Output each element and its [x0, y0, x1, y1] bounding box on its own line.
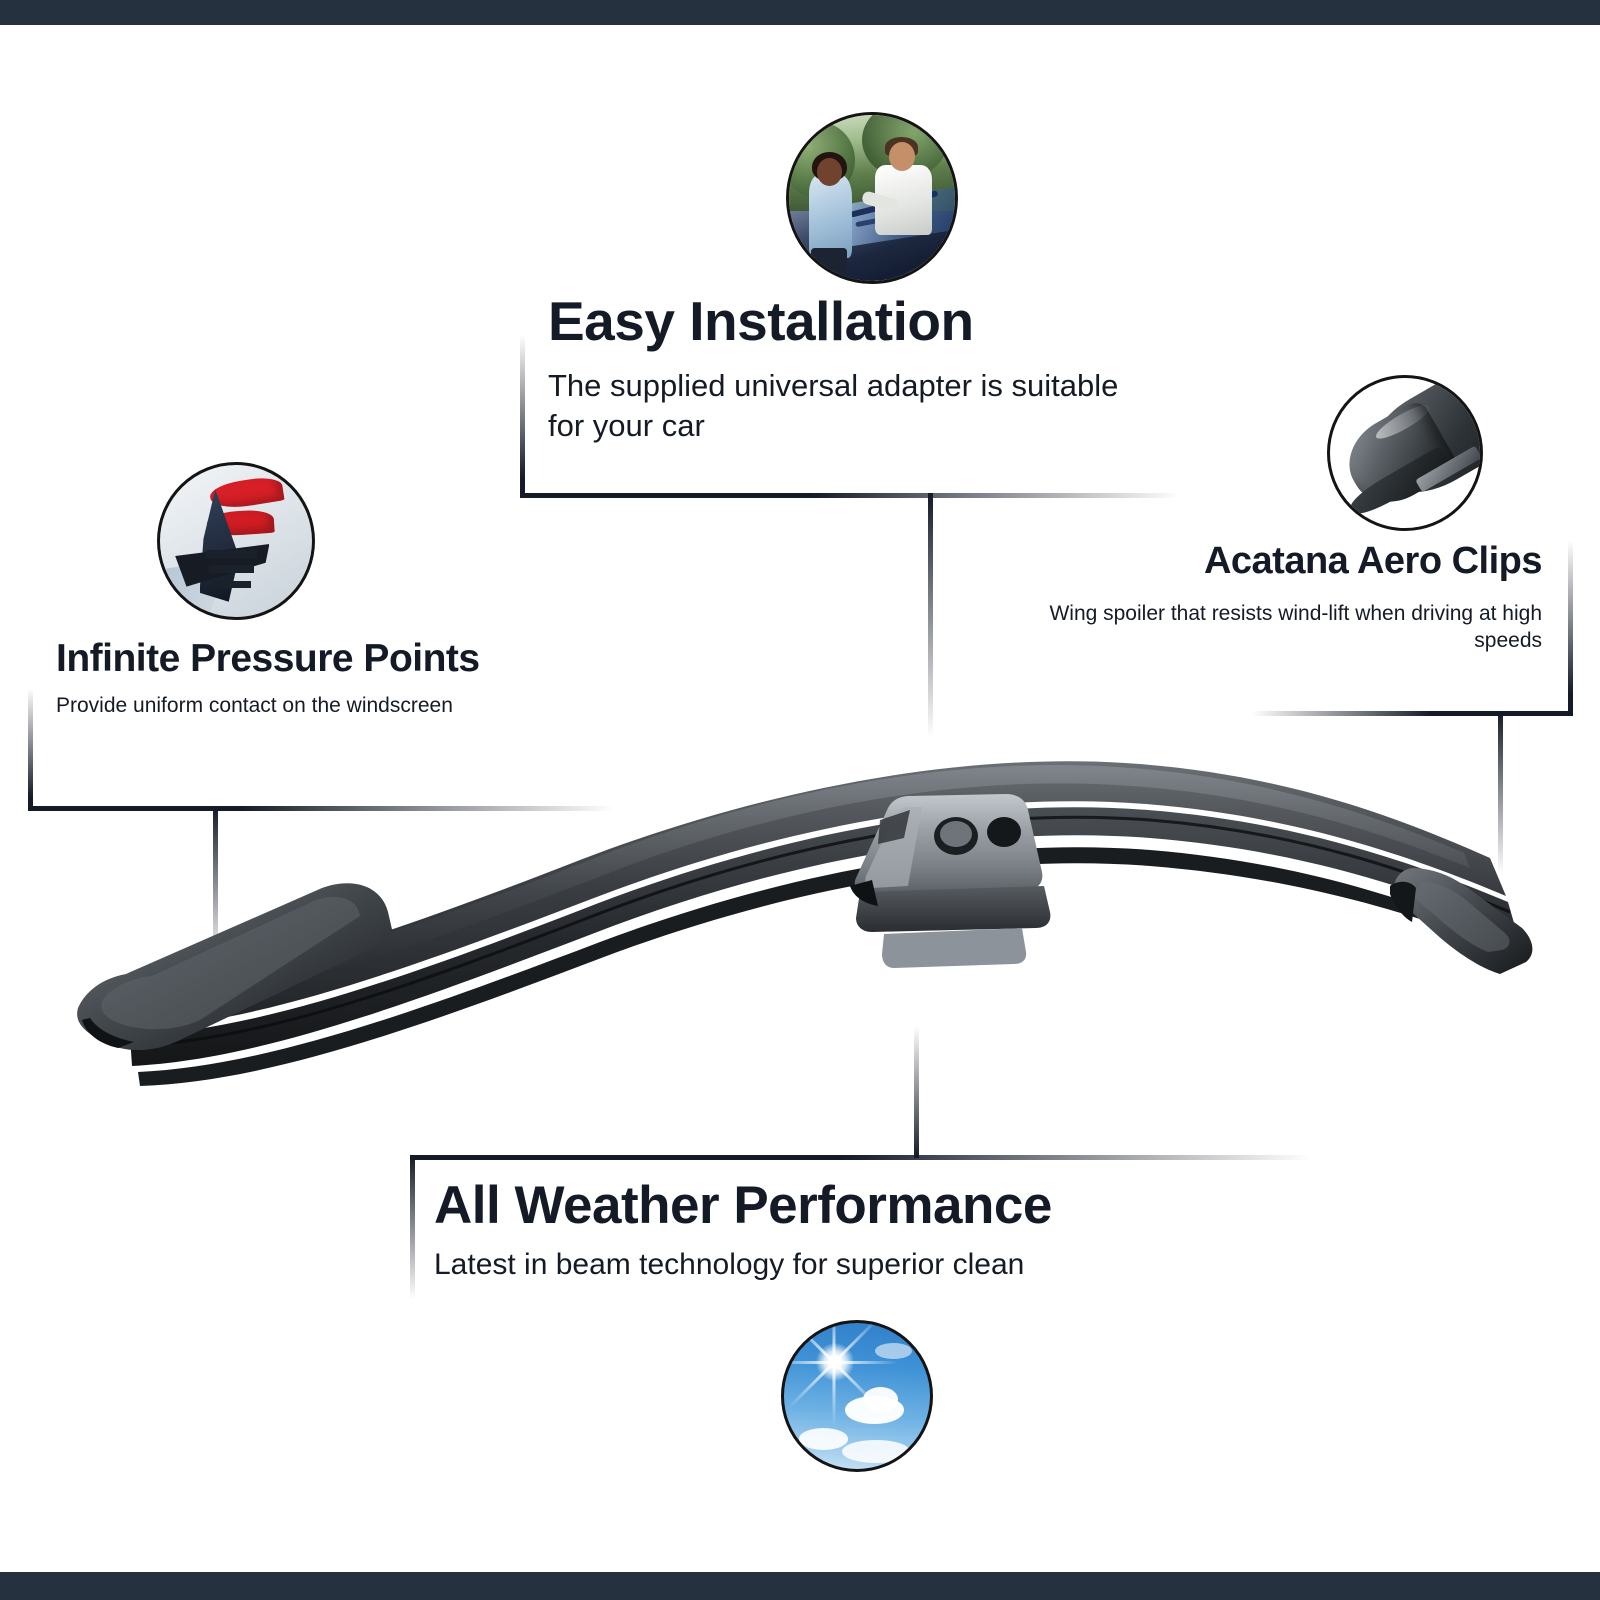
feature-description: Wing spoiler that resists wind-lift when…: [1030, 601, 1542, 655]
feature-description: Latest in beam technology for superior c…: [434, 1246, 1304, 1284]
blade-rib-1: [206, 550, 258, 558]
people-installing-wiper-photo: [786, 112, 958, 284]
easy-installation-frame-left: [520, 335, 525, 497]
sunny-sky-photo: [781, 1320, 933, 1472]
right-clip-notch: [1390, 882, 1416, 922]
feature-title: Infinite Pressure Points: [56, 638, 676, 679]
all-weather-frame-top: [410, 1155, 1310, 1160]
cloud-bottom: [842, 1440, 909, 1463]
infographic-canvas: Easy Installation The supplied universal…: [0, 0, 1600, 1600]
universal-adapter: [850, 794, 1050, 968]
blade-rib-2: [209, 565, 255, 573]
cloud-top-right: [875, 1343, 913, 1359]
feature-title: Easy Installation: [548, 292, 1158, 350]
feature-all-weather-performance: All Weather Performance Latest in beam t…: [434, 1178, 1304, 1285]
cloud-left: [799, 1428, 849, 1450]
top-accent-bar: [0, 0, 1600, 25]
pressure-points-frame-left: [28, 688, 33, 810]
aero-clips-frame-right: [1568, 540, 1573, 715]
woman-figure: [809, 175, 852, 258]
aero-wiper-blade-image: [60, 690, 1560, 1110]
blade-rib-3: [212, 581, 252, 589]
all-weather-frame-left: [410, 1155, 415, 1305]
cloud-center: [845, 1396, 903, 1424]
bottom-accent-bar: [0, 1572, 1600, 1600]
aero-clip-closeup-photo: [1327, 375, 1483, 531]
all-weather-connector: [914, 1018, 919, 1158]
feature-easy-installation: Easy Installation The supplied universal…: [548, 292, 1158, 446]
feature-acatana-aero-clips: Acatana Aero Clips Wing spoiler that res…: [1030, 541, 1542, 655]
easy-installation-frame-bottom: [520, 493, 1180, 498]
woman-trousers: [811, 248, 848, 281]
feature-description: The supplied universal adapter is suitab…: [548, 366, 1158, 445]
feature-title: Acatana Aero Clips: [1030, 541, 1542, 581]
pressure-distribution-diagram: [157, 462, 315, 620]
feature-title: All Weather Performance: [434, 1178, 1304, 1234]
